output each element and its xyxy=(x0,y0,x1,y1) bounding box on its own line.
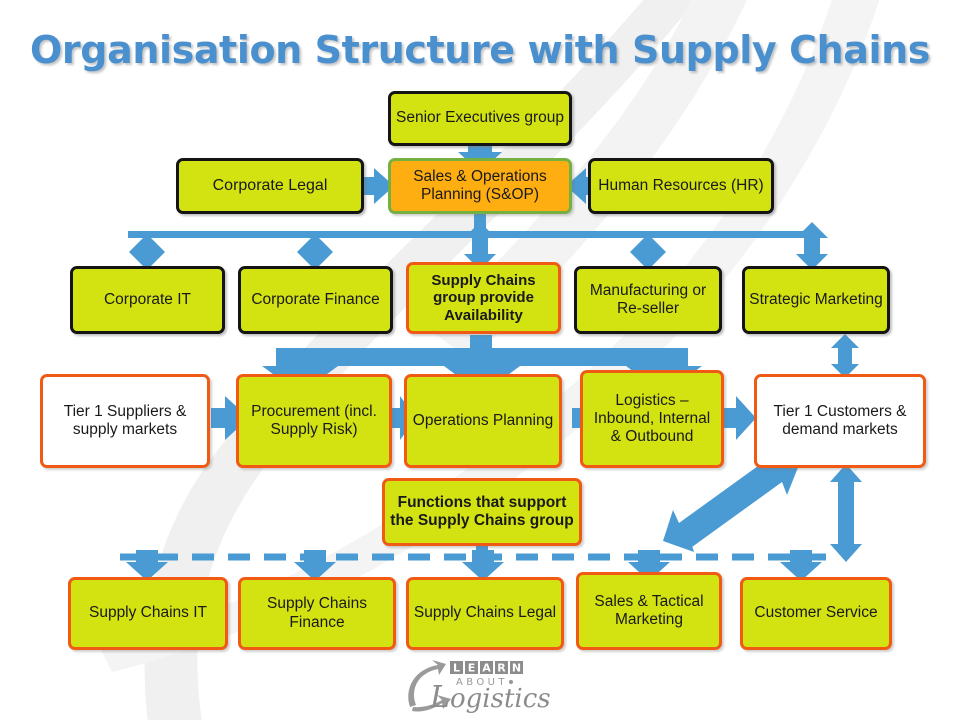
svg-text:R: R xyxy=(497,662,506,675)
node-tier-1-suppliers[interactable]: Tier 1 Suppliers & supply markets xyxy=(40,374,210,468)
node-tier-1-customers[interactable]: Tier 1 Customers & demand markets xyxy=(754,374,926,468)
bus-supply-chain-row xyxy=(292,348,672,366)
svg-text:N: N xyxy=(512,662,521,675)
arrow-custservice-to-customers xyxy=(830,464,862,562)
stub-scgroup-to-bus2 xyxy=(470,335,492,351)
svg-text:ogistics: ogistics xyxy=(450,684,551,714)
node-supply-chains-finance[interactable]: Supply Chains Finance xyxy=(238,577,396,650)
logo-text-logistics: L xyxy=(429,680,450,715)
node-operations-planning[interactable]: Operations Planning xyxy=(404,374,562,468)
bus-corporate-row xyxy=(128,231,810,238)
stub-sop-to-bus xyxy=(474,213,486,233)
node-corporate-legal[interactable]: Corporate Legal xyxy=(176,158,364,214)
diagram-canvas: Organisation Structure with Supply Chain… xyxy=(0,0,960,720)
logo-text-learn: L xyxy=(453,662,460,675)
diamond-corporate-it xyxy=(129,234,165,270)
diamond-manufacturing xyxy=(630,234,666,270)
node-sales-tactical-marketing[interactable]: Sales & Tactical Marketing xyxy=(576,572,722,650)
node-senior-executives[interactable]: Senior Executives group xyxy=(388,91,572,146)
node-supply-chains-it[interactable]: Supply Chains IT xyxy=(68,577,228,650)
stub-note-to-dashed xyxy=(476,544,488,560)
arrow-strategicmkt-to-customers xyxy=(831,334,859,378)
learn-about-logistics-logo: L E A R N ABOUT L ogistics xyxy=(398,655,578,717)
node-functions-support-note[interactable]: Functions that support the Supply Chains… xyxy=(382,478,582,546)
node-customer-service[interactable]: Customer Service xyxy=(740,577,892,650)
arrow-bus-to-strategic-marketing xyxy=(796,222,828,270)
node-manufacturing-or-reseller[interactable]: Manufacturing or Re-seller xyxy=(574,266,722,334)
node-supply-chains-legal[interactable]: Supply Chains Legal xyxy=(406,577,564,650)
node-supply-chains-group[interactable]: Supply Chains group provide Availability xyxy=(406,262,561,334)
node-corporate-finance[interactable]: Corporate Finance xyxy=(238,266,393,334)
page-title: Organisation Structure with Supply Chain… xyxy=(0,28,960,72)
node-strategic-marketing[interactable]: Strategic Marketing xyxy=(742,266,890,334)
arrow-logistics-to-customers xyxy=(724,396,756,440)
node-human-resources[interactable]: Human Resources (HR) xyxy=(588,158,774,214)
node-corporate-it[interactable]: Corporate IT xyxy=(70,266,225,334)
svg-text:E: E xyxy=(468,662,476,675)
svg-text:A: A xyxy=(482,662,491,675)
node-procurement[interactable]: Procurement (incl. Supply Risk) xyxy=(236,374,392,468)
node-sales-operations-planning[interactable]: Sales & Operations Planning (S&OP) xyxy=(388,158,572,214)
node-logistics[interactable]: Logistics – Inbound, Internal & Outbound xyxy=(580,370,724,468)
diamond-corporate-fin xyxy=(297,234,333,270)
